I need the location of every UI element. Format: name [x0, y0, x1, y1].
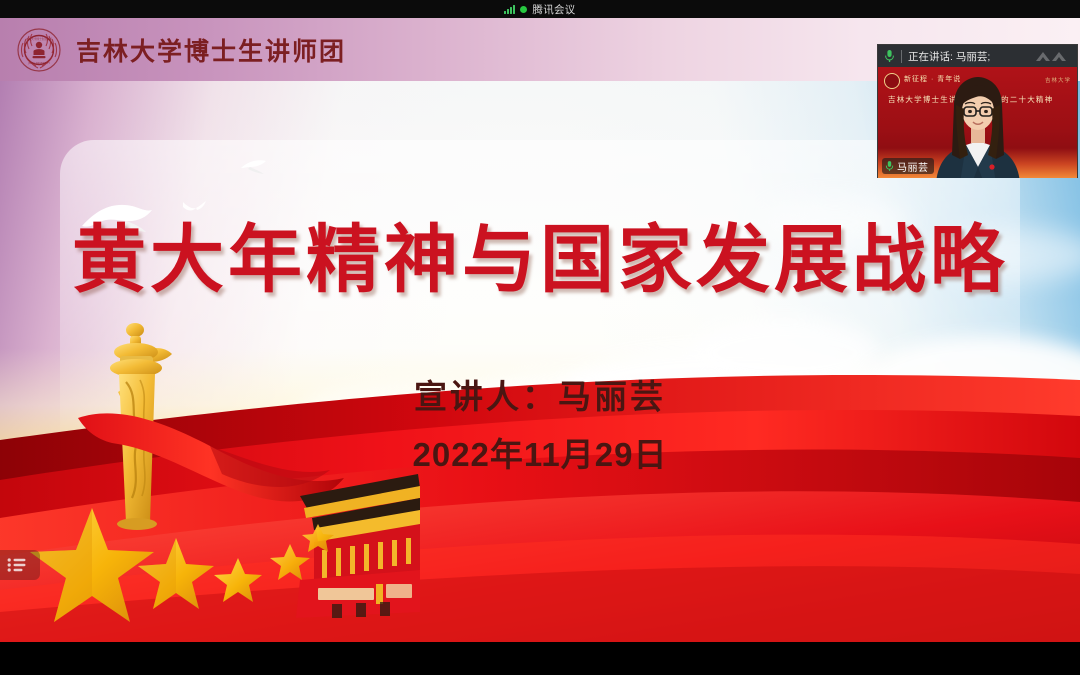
organization-name: 吉林大学博士生讲师团 — [76, 32, 346, 68]
svg-text:吉林大学博士生讲师团: 吉林大学博士生讲师团 — [26, 37, 52, 41]
topbar-status-cluster: 腾讯会议 — [504, 2, 575, 17]
tencent-meeting-logo-icon — [1034, 49, 1072, 63]
five-stars-graphic — [30, 508, 334, 622]
outline-list-button[interactable] — [0, 550, 40, 580]
participant-name: 马丽芸 — [897, 159, 929, 174]
dove-icon — [240, 158, 274, 176]
tiananmen-huabiao-graphic — [0, 312, 420, 642]
participant-video-image — [930, 75, 1026, 178]
university-emblem-icon: 吉林大学博士生讲师团 JILIN UNIVERSITY — [16, 27, 62, 73]
app-titlebar: 腾讯会议 — [0, 0, 1080, 18]
backdrop-emblem-icon — [884, 73, 900, 89]
dove-icon — [182, 200, 208, 214]
video-stage: 新征程 · 青年说 吉林大学博士生讲师团宣讲党的二十大精神 吉林大学 — [878, 67, 1077, 178]
microphone-icon — [884, 49, 895, 63]
video-titlebar: 正在讲话: 马丽芸; — [878, 45, 1077, 67]
bottom-letterbox — [0, 642, 1080, 675]
titlebar-divider — [901, 50, 902, 63]
self-video-panel[interactable]: 正在讲话: 马丽芸; 新征程 · 青年说 吉林大学博士生讲师团宣讲党的二十大精神… — [877, 44, 1078, 178]
talk-date: 2022年11月29日 — [0, 428, 1080, 476]
microphone-icon — [885, 160, 894, 172]
app-title: 腾讯会议 — [532, 2, 575, 17]
backdrop-right-text: 吉林大学 — [1045, 76, 1071, 84]
signal-bars-icon — [504, 5, 515, 14]
recording-dot-icon — [520, 6, 527, 13]
speaking-label: 正在讲话: 马丽芸; — [908, 49, 990, 64]
svg-text:JILIN UNIVERSITY: JILIN UNIVERSITY — [27, 61, 50, 65]
page-title: 黄大年精神与国家发展战略 — [0, 223, 1080, 297]
presenter-name: 宣讲人：马丽芸 — [0, 370, 1080, 418]
participant-name-tag: 马丽芸 — [882, 158, 934, 174]
outline-list-icon — [7, 557, 27, 573]
